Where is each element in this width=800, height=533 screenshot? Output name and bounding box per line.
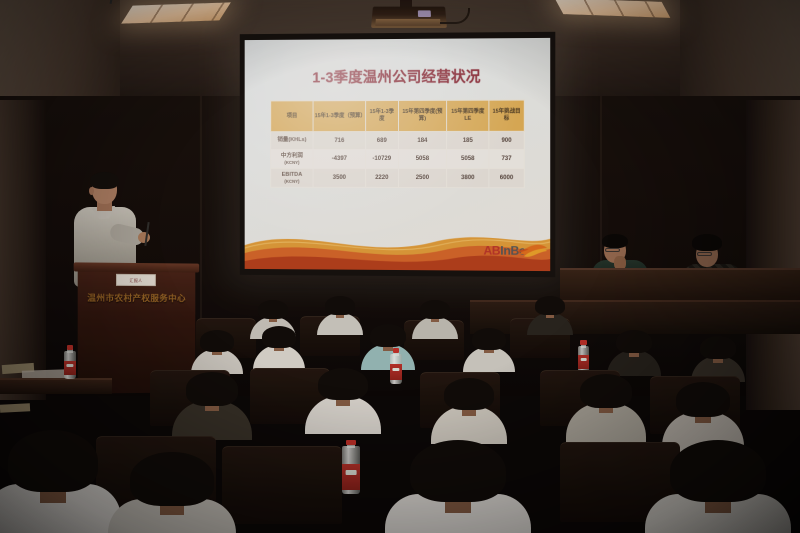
bottle-cap bbox=[580, 340, 586, 345]
audience-hair bbox=[186, 372, 238, 406]
bottle-cap bbox=[393, 348, 400, 353]
audience-hair bbox=[318, 368, 368, 400]
conference-room-photo: 1-3季度温州公司经营状况 项目 15年1-3季度（预算） 15年1-3季度 1… bbox=[0, 0, 800, 533]
audience-member-foreground bbox=[8, 430, 98, 533]
audience-member-foreground bbox=[670, 440, 766, 533]
bottle-label bbox=[390, 364, 402, 380]
logo-ab-text: AB bbox=[483, 243, 500, 257]
audience-member bbox=[444, 378, 494, 432]
cell-ebitda-q1q3-actual: 2220 bbox=[366, 168, 398, 187]
row-label-unit: (KCNY) bbox=[272, 179, 312, 184]
projector-face bbox=[375, 19, 440, 26]
audience-hair bbox=[676, 382, 730, 417]
table-row: EBITDA(KCNY) 3500 2220 2500 3800 6000 bbox=[271, 168, 525, 187]
audience-hair bbox=[370, 324, 406, 347]
row-label-profit: 中方利润(KCNY) bbox=[271, 150, 314, 169]
column-header-challenge-target: 15年挑战目标 bbox=[489, 100, 525, 131]
audience-hair bbox=[410, 440, 506, 502]
cell-volume-challenge: 900 bbox=[489, 131, 525, 149]
wall-left-pillar bbox=[0, 100, 46, 400]
slide-surface: 1-3季度温州公司经营状况 项目 15年1-3季度（预算） 15年1-3季度 1… bbox=[245, 38, 551, 271]
audience-hair bbox=[580, 374, 632, 408]
audience-hair bbox=[8, 430, 98, 492]
bottle-cap bbox=[67, 345, 74, 350]
bottle-label bbox=[578, 355, 589, 369]
chair-back bbox=[222, 446, 342, 524]
water-bottle bbox=[64, 345, 76, 379]
audience-member bbox=[262, 326, 296, 362]
audience-hair bbox=[325, 296, 355, 315]
side-desk bbox=[0, 378, 112, 394]
column-header-q1q3-budget: 15年1-3季度（预算） bbox=[313, 101, 365, 132]
audience-hair bbox=[200, 330, 234, 352]
audience-member-foreground bbox=[410, 440, 506, 533]
lectern-top-surface bbox=[74, 262, 200, 272]
water-bottle bbox=[342, 440, 360, 496]
lectern-nameplate-text: 汇报人 bbox=[117, 275, 155, 287]
light-panel-grid bbox=[121, 2, 231, 23]
audience-hair bbox=[700, 336, 736, 359]
wall-seam bbox=[200, 96, 202, 326]
row-label-volume: 销量(KHLs) bbox=[271, 132, 314, 150]
column-header-item: 项目 bbox=[271, 101, 314, 132]
ceiling-light-panel-left bbox=[121, 2, 231, 23]
audience-member bbox=[616, 330, 652, 368]
audience-member bbox=[186, 372, 238, 428]
wall-right-pillar bbox=[746, 100, 800, 410]
logo-in-text: In bbox=[500, 244, 510, 258]
audience-member-foreground bbox=[130, 452, 214, 533]
audience-hair bbox=[472, 328, 506, 350]
bottle-cap bbox=[346, 440, 356, 445]
audience-member bbox=[580, 374, 632, 430]
audience-member bbox=[700, 336, 736, 374]
audience-member bbox=[535, 296, 565, 328]
cell-profit-q1q3-budget: -4397 bbox=[313, 150, 365, 169]
projection-screen: 1-3季度温州公司经营状况 项目 15年1-3季度（预算） 15年1-3季度 1… bbox=[240, 32, 556, 277]
table-row: 销量(KHLs) 716 689 184 185 900 bbox=[271, 131, 525, 149]
cell-volume-q1q3-budget: 716 bbox=[313, 132, 365, 150]
audience-hair bbox=[420, 300, 450, 319]
cell-volume-q1q3-actual: 689 bbox=[366, 131, 398, 149]
audience-member bbox=[325, 296, 355, 328]
presenter-ear bbox=[89, 187, 94, 195]
audience-hair bbox=[616, 330, 652, 353]
results-table: 项目 15年1-3季度（预算） 15年1-3季度 15年第四季度(预算) 15年… bbox=[270, 100, 525, 189]
water-bottle bbox=[578, 340, 589, 374]
cell-ebitda-q1q3-budget: 3500 bbox=[313, 168, 365, 187]
bottle-label-mark bbox=[346, 470, 357, 475]
seated-man-hair bbox=[692, 234, 722, 251]
cell-ebitda-challenge: 6000 bbox=[489, 169, 525, 188]
audience-member bbox=[676, 382, 730, 440]
seated-man-hair bbox=[602, 234, 628, 248]
cell-profit-q4-budget: 5058 bbox=[398, 149, 447, 168]
cell-volume-q4-le: 185 bbox=[447, 131, 489, 149]
ceiling-projector-icon bbox=[371, 7, 447, 28]
cell-ebitda-q4-budget: 2500 bbox=[398, 168, 447, 187]
row-label-unit: (KCNY) bbox=[272, 160, 312, 165]
row-label-unit: (KHLs) bbox=[288, 137, 306, 143]
audience-hair bbox=[535, 296, 565, 315]
bottle-label-mark bbox=[66, 364, 73, 367]
row-label-text: 销量 bbox=[277, 137, 288, 143]
venue-sign-text: 温州市农村产权服务中心 bbox=[84, 292, 190, 304]
audience-member bbox=[472, 328, 506, 364]
cell-profit-challenge: 737 bbox=[489, 149, 525, 168]
row-label-text: EBITDA bbox=[282, 172, 303, 178]
lectern-nameplate: 汇报人 bbox=[116, 274, 156, 286]
audience-member bbox=[420, 300, 450, 332]
column-header-q1q3-actual: 15年1-3季度 bbox=[366, 100, 398, 131]
cell-profit-q1q3-actual: -10729 bbox=[366, 149, 398, 168]
row-label-text: 中方利润 bbox=[281, 153, 303, 159]
row-label-ebitda: EBITDA(KCNY) bbox=[271, 168, 314, 187]
audience-hair bbox=[130, 452, 214, 506]
desk-book bbox=[0, 403, 30, 413]
projector-lens bbox=[418, 10, 431, 17]
audience-hair bbox=[258, 300, 288, 319]
cell-profit-q4-le: 5058 bbox=[447, 149, 489, 168]
eagle-icon bbox=[518, 243, 548, 260]
column-header-q4-le: 15年第四季度LE bbox=[447, 100, 489, 131]
column-header-q4-budget: 15年第四季度(预算) bbox=[398, 100, 447, 131]
cell-volume-q4-budget: 184 bbox=[398, 131, 447, 149]
bottle-label-mark bbox=[392, 368, 399, 371]
audience-hair bbox=[670, 440, 766, 502]
bottle-label bbox=[64, 361, 76, 375]
eyeglasses-icon bbox=[697, 252, 712, 256]
bottle-label-mark bbox=[580, 358, 587, 361]
audience-member bbox=[318, 368, 368, 422]
audience-hair bbox=[444, 378, 494, 410]
audience-hair bbox=[262, 326, 296, 348]
slide-title: 1-3季度温州公司经营状况 bbox=[245, 65, 551, 87]
bottle-label bbox=[342, 464, 360, 490]
eyeglasses-icon bbox=[605, 248, 620, 252]
water-bottle bbox=[390, 348, 402, 384]
table-header-row: 项目 15年1-3季度（预算） 15年1-3季度 15年第四季度(预算) 15年… bbox=[271, 100, 525, 132]
audience-member bbox=[200, 330, 234, 366]
cell-ebitda-q4-le: 3800 bbox=[447, 169, 489, 188]
table-row: 中方利润(KCNY) -4397 -10729 5058 5058 737 bbox=[271, 149, 525, 168]
presenter-hair bbox=[90, 172, 119, 189]
